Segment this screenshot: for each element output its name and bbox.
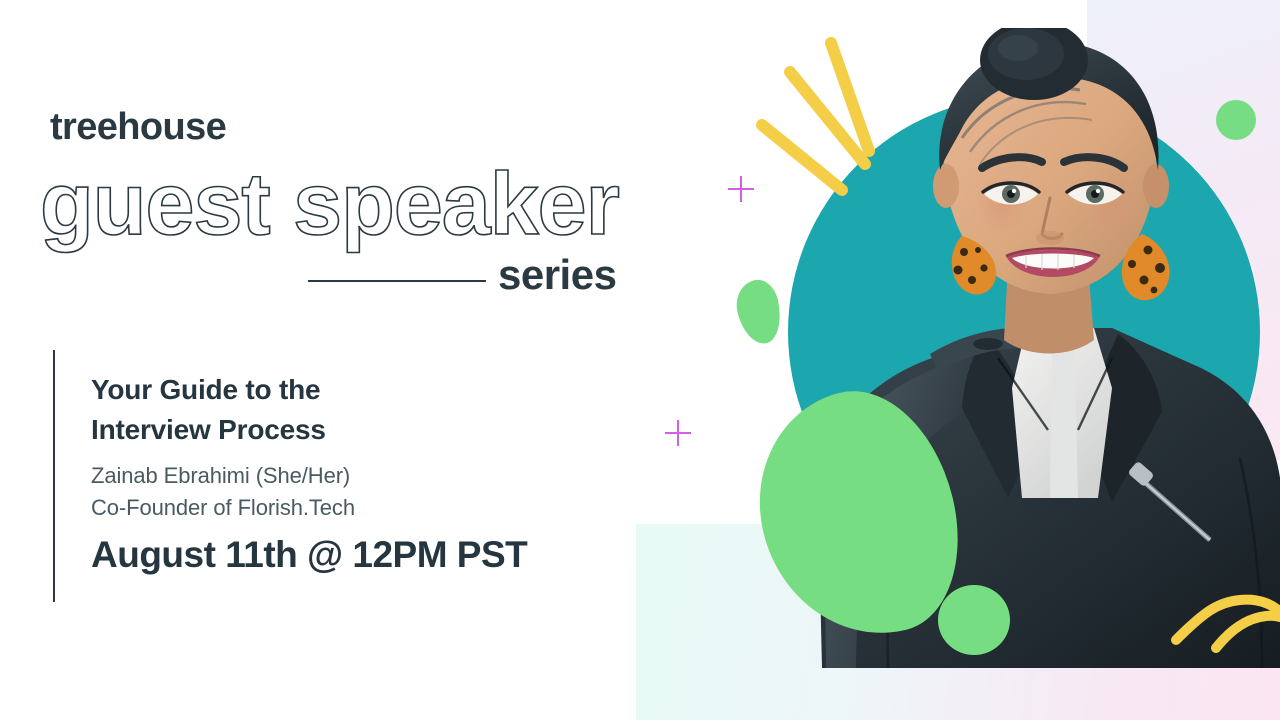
brand-wordmark: treehouse [50,108,226,146]
speaker-role: Co-Founder of Florish.Tech [91,492,355,524]
speaker-details: Zainab Ebrahimi (She/Her) Co-Founder of … [91,460,355,524]
speaker-name: Zainab Ebrahimi (She/Her) [91,460,355,492]
plus-mark-lower [665,420,691,446]
talk-title-line-1: Your Guide to the [91,370,326,410]
green-circle-bottom [938,585,1010,655]
event-datetime: August 11th @ 12PM PST [91,536,527,573]
series-divider-rule [308,280,486,282]
series-label: series [498,254,616,296]
green-blob-small-top [732,276,786,347]
talk-title: Your Guide to the Interview Process [91,370,326,450]
headline-outline-text: guest speaker [40,158,619,250]
left-accent-rule [53,350,55,602]
presentation-slide: treehouse guest speaker series Your Guid… [0,0,1280,720]
plus-mark-upper [728,176,754,202]
talk-title-line-2: Interview Process [91,410,326,450]
